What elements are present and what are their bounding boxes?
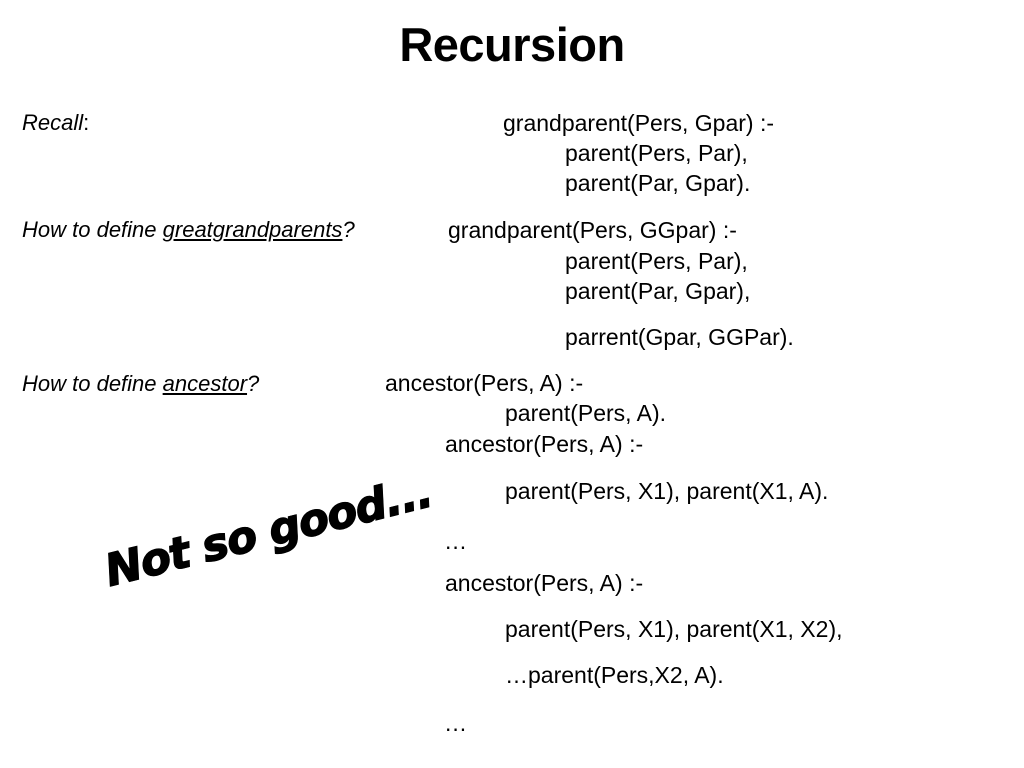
prompt-ancestor-suffix: ? [247,371,259,396]
code-ellipsis-bottom: ... [445,710,467,737]
code-ellipsis-top: ... [445,528,467,555]
prompt-recall-suffix: : [83,110,89,135]
code-line-ancestor-expanded-body-2: …parent(Pers,X2, A). [505,662,724,689]
code-line-ggparent-head: grandparent(Pers, GGpar) :- [448,217,737,244]
prompt-greatgrandparents-suffix: ? [342,217,354,242]
prompt-ancestor-term: ancestor [163,371,247,396]
code-line-grandparent-body-2: parent(Par, Gpar). [565,170,750,197]
prompt-greatgrandparents-term: greatgrandparents [163,217,343,242]
code-line-ancestor-body-2: parent(Pers, X1), parent(X1, A). [505,478,828,505]
page-title: Recursion [0,18,1024,72]
annotation-not-so-good: Not so good... [100,468,436,596]
slide-canvas: Recursion Recall: grandparent(Pers, Gpar… [0,0,1024,768]
prompt-greatgrandparents-prefix: How to define [22,217,163,242]
prompt-ancestor: How to define ancestor? [22,371,259,397]
prompt-greatgrandparents: How to define greatgrandparents? [22,217,355,243]
code-line-ggparent-body-2: parent(Par, Gpar), [565,278,750,305]
code-line-grandparent-body-1: parent(Pers, Par), [565,140,748,167]
code-line-ancestor-head-1: ancestor(Pers, A) :- [385,370,583,397]
prompt-ancestor-prefix: How to define [22,371,163,396]
prompt-recall: Recall: [22,110,89,136]
code-line-ancestor-body-1: parent(Pers, A). [505,400,666,427]
code-line-ancestor-expanded-head: ancestor(Pers, A) :- [445,570,643,597]
code-line-ancestor-head-2: ancestor(Pers, A) :- [445,431,643,458]
code-line-ggparent-body-3: parrent(Gpar, GGPar). [565,324,794,351]
code-line-grandparent-head: grandparent(Pers, Gpar) :- [503,110,774,137]
prompt-recall-prefix: Recall [22,110,83,135]
code-line-ggparent-body-1: parent(Pers, Par), [565,248,748,275]
code-line-ancestor-expanded-body-1: parent(Pers, X1), parent(X1, X2), [505,616,843,643]
